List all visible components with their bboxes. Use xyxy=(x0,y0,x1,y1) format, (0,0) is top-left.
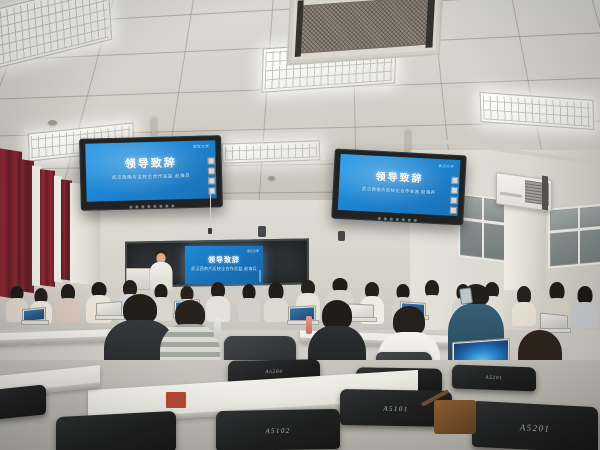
audience-person xyxy=(238,284,260,320)
smoke-detector-icon xyxy=(268,176,275,180)
right-monitor-logo: 武汉大学 xyxy=(438,163,454,169)
water-bottle xyxy=(306,316,312,334)
chair-tag: A5102 xyxy=(216,426,340,436)
audience-person xyxy=(572,286,598,326)
projection-title: 领导致辞 xyxy=(185,255,263,265)
chair-foreground-left[interactable] xyxy=(56,411,176,450)
window xyxy=(548,203,600,268)
chair-a5201-mid[interactable]: A5201 xyxy=(452,365,536,392)
ceiling-light xyxy=(222,140,321,163)
chair-tag: A5201 xyxy=(472,420,598,437)
left-wall-monitor: 领导致辞 武汉西南片区校企合作总监 赵海兵 武汉大学 xyxy=(79,135,223,211)
ceiling-ac-vent xyxy=(286,0,443,66)
projection-subtitle: 武汉西南片区校企合作总监 赵海兵 xyxy=(185,266,263,272)
smoke-detector-icon xyxy=(48,120,57,125)
chair-tag: A5201 xyxy=(452,375,536,383)
ceiling-light xyxy=(0,0,112,69)
smartphone[interactable] xyxy=(459,287,473,305)
ceiling-speaker-icon xyxy=(338,231,345,241)
handbag xyxy=(434,400,476,434)
monitor-mount-arm xyxy=(406,130,410,154)
right-monitor-controls[interactable] xyxy=(378,217,417,222)
water-bottle xyxy=(214,318,221,338)
chair-a5102[interactable]: A5102 xyxy=(216,409,340,450)
wall-ac-bracket xyxy=(542,175,548,210)
monitor-cable-plug xyxy=(208,228,212,234)
chair-tag: A5204 xyxy=(228,369,320,376)
chair-a5201-front[interactable]: A5201 xyxy=(472,401,598,450)
ceiling-light xyxy=(480,92,595,130)
left-monitor-side-buttons[interactable] xyxy=(208,158,216,195)
audience-person xyxy=(264,282,288,320)
paper-on-desk xyxy=(166,392,186,408)
curtain xyxy=(40,169,55,287)
audience-person xyxy=(56,284,80,320)
monitor-cable xyxy=(210,194,211,230)
right-monitor-screen: 领导致辞 武汉西南片区校企合作总监 赵海兵 武汉大学 xyxy=(338,154,461,216)
left-monitor-screen: 领导致辞 武汉西南片区校企合作总监 赵海兵 武汉大学 xyxy=(85,140,216,201)
laptop[interactable] xyxy=(22,308,46,324)
right-wall-monitor: 领导致辞 武汉西南片区校企合作总监 赵海兵 武汉大学 xyxy=(331,149,466,226)
classroom-photo: 领导致辞 武汉西南片区校企合作总监 赵海兵 武汉大学 领导致辞 武汉西南片区校企… xyxy=(0,0,600,450)
left-monitor-title: 领导致辞 xyxy=(86,153,216,172)
left-monitor-controls[interactable] xyxy=(129,204,174,208)
audience-person xyxy=(512,286,536,324)
ceiling-speaker-icon xyxy=(258,226,266,237)
projection-logo: 武汉大学 xyxy=(247,249,259,253)
left-monitor-logo: 武汉大学 xyxy=(193,144,210,149)
